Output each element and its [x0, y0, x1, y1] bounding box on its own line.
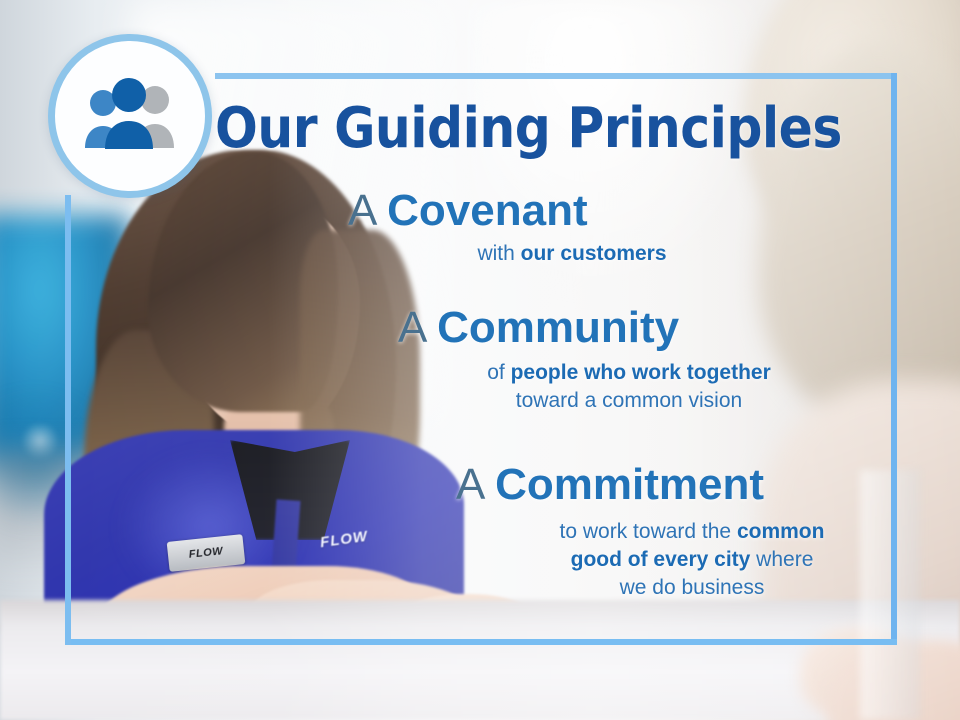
principle-subtext: with our customers: [348, 234, 748, 268]
name-badge-logo-text: FLOW: [188, 545, 223, 561]
principle-keyword: Community: [437, 303, 679, 352]
people-badge: [48, 34, 212, 198]
principle-heading: A Covenant: [348, 188, 748, 234]
principle-block-community: A Community of people who work togethert…: [398, 305, 818, 415]
guiding-principles-banner: FLOW FLOW O: [0, 0, 960, 720]
principle-block-covenant: A Covenant with our customers: [348, 188, 748, 268]
principle-heading: A Commitment: [456, 462, 876, 508]
people-group-icon: [76, 77, 184, 155]
principle-heading: A Community: [398, 305, 818, 351]
principle-article: A: [398, 303, 437, 352]
principle-article: A: [456, 460, 495, 509]
principle-keyword: Covenant: [387, 186, 587, 235]
principle-subtext: of people who work togethertoward a comm…: [398, 351, 818, 414]
principle-block-commitment: A Commitment to work toward the commongo…: [456, 462, 876, 601]
principle-keyword: Commitment: [495, 460, 764, 509]
page-title: Our Guiding Principles: [215, 96, 842, 161]
principle-article: A: [348, 186, 387, 235]
principle-subtext: to work toward the commongood of every c…: [456, 508, 876, 601]
